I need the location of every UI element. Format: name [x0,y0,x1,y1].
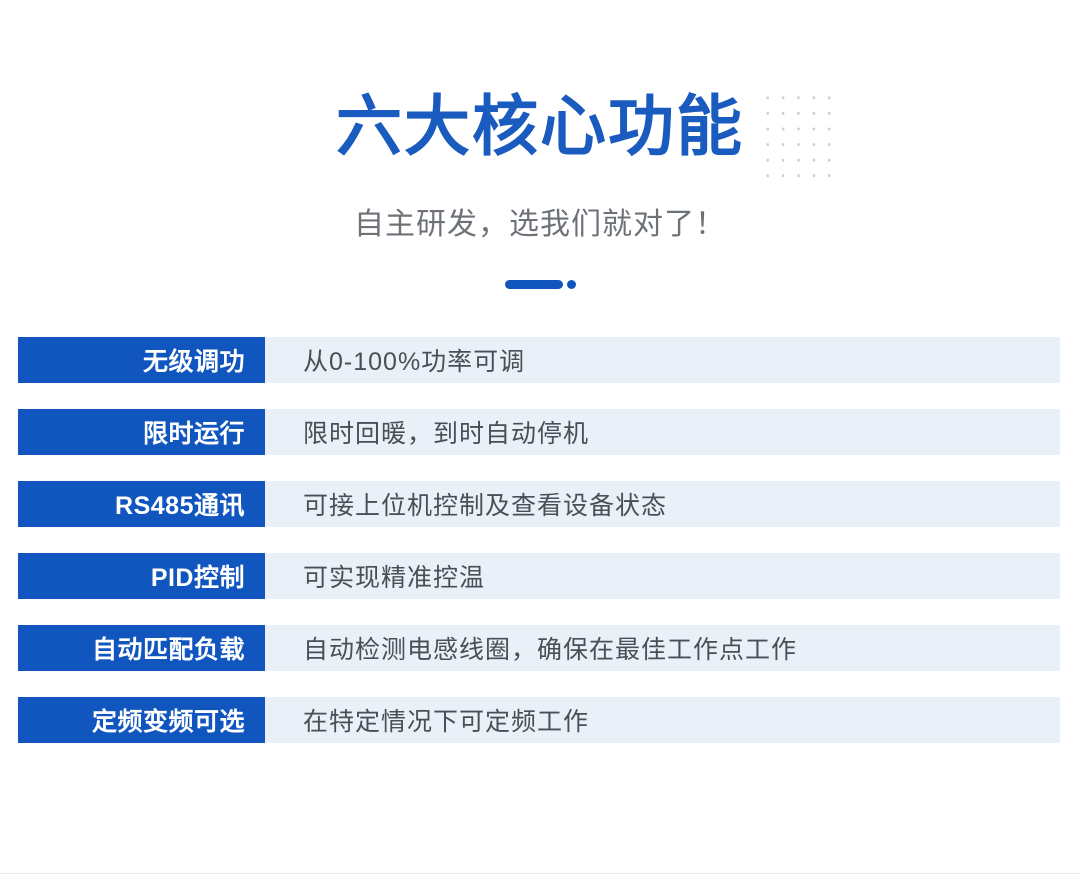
page-header: 六大核心功能 自主研发，选我们就对了！ [0,0,1080,310]
feature-row: 限时运行 限时回暖，到时自动停机 [0,409,1080,455]
feature-description: 可实现精准控温 [265,553,485,599]
feature-description: 自动检测电感线圈，确保在最佳工作点工作 [265,625,797,671]
divider-dot [567,280,576,289]
page-subtitle: 自主研发，选我们就对了！ [0,203,1080,247]
feature-description: 可接上位机控制及查看设备状态 [265,481,667,527]
feature-label-badge: 限时运行 [18,409,265,455]
title-divider [0,278,1080,290]
feature-description: 限时回暖，到时自动停机 [265,409,589,455]
feature-list: 无级调功 从0-100%功率可调 限时运行 限时回暖，到时自动停机 RS485通… [0,337,1080,769]
feature-label-badge: 定频变频可选 [18,697,265,743]
feature-row: RS485通讯 可接上位机控制及查看设备状态 [0,481,1080,527]
feature-row: 定频变频可选 在特定情况下可定频工作 [0,697,1080,743]
feature-row: 自动匹配负载 自动检测电感线圈，确保在最佳工作点工作 [0,625,1080,671]
feature-label-badge: RS485通讯 [18,481,265,527]
feature-label-badge: 无级调功 [18,337,265,383]
page-title: 六大核心功能 [0,84,1080,168]
feature-label-badge: PID控制 [18,553,265,599]
feature-row: PID控制 可实现精准控温 [0,553,1080,599]
feature-description: 在特定情况下可定频工作 [265,697,589,743]
divider-bar [505,280,563,289]
page-root: { "header": { "title": "六大核心功能", "subtit… [0,0,1080,874]
feature-label-badge: 自动匹配负载 [18,625,265,671]
feature-description: 从0-100%功率可调 [265,337,525,383]
feature-row: 无级调功 从0-100%功率可调 [0,337,1080,383]
